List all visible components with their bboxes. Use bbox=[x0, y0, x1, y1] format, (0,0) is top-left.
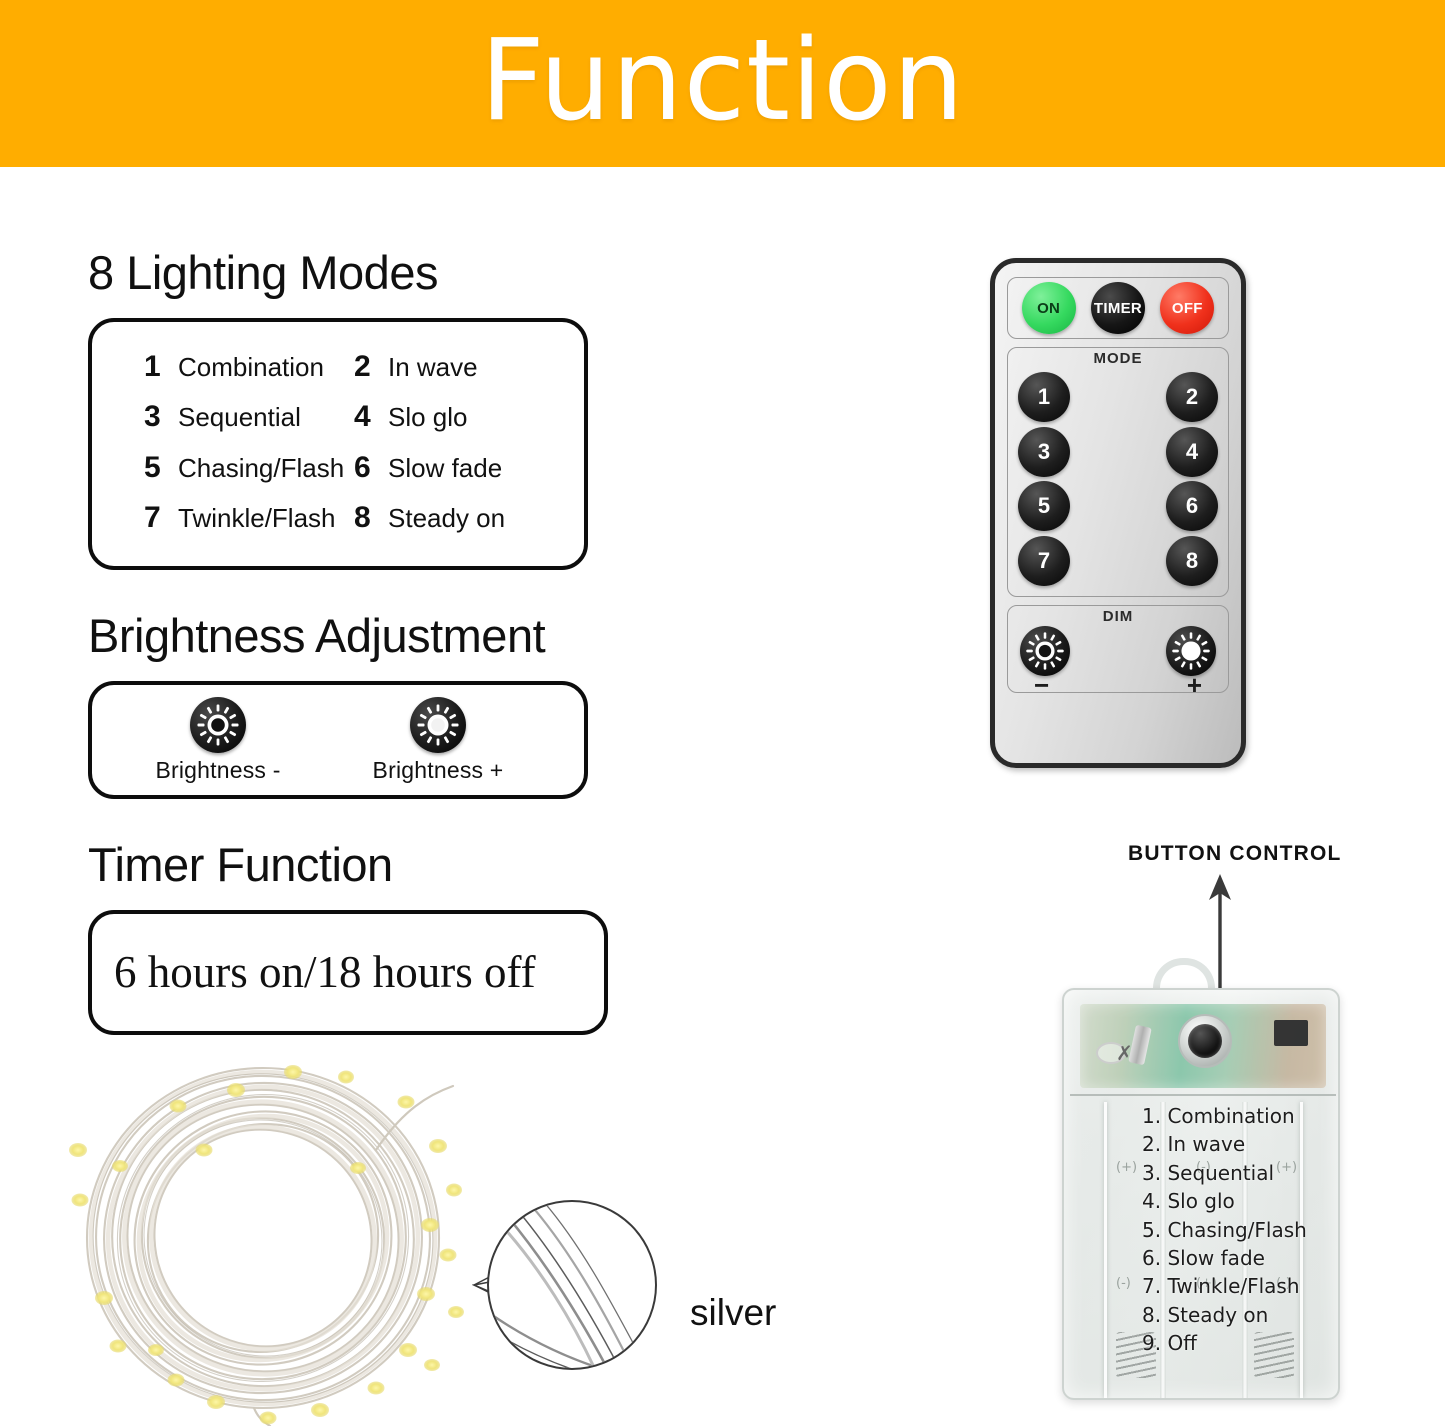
mode-label: Steady on bbox=[388, 497, 505, 541]
mode-row: 3 Sequential 4 Slo glo bbox=[92, 392, 584, 442]
mode-row: 1 Combination 2 In wave bbox=[92, 342, 584, 392]
remote-mode-button-1[interactable]: 1 bbox=[1018, 372, 1070, 422]
remote-power-group: ON TIMER OFF bbox=[1007, 277, 1229, 339]
battery-box-push-button[interactable] bbox=[1178, 1014, 1232, 1068]
lighting-modes-heading: 8 Lighting Modes bbox=[88, 245, 628, 300]
string-light-coil-image bbox=[58, 1050, 478, 1426]
mode-number: 5 bbox=[144, 443, 178, 493]
crossed-component-icon: ✗ bbox=[1116, 1044, 1138, 1066]
brightness-minus-item: Brightness - bbox=[128, 697, 308, 784]
mode-number: 4 bbox=[354, 392, 388, 442]
mode-label: Slo glo bbox=[388, 396, 468, 440]
push-button-cap bbox=[1188, 1024, 1222, 1058]
mode-label: Twinkle/Flash bbox=[178, 497, 336, 541]
silver-callout-label: silver bbox=[690, 1292, 776, 1334]
remote-mode-button-4[interactable]: 4 bbox=[1166, 427, 1218, 477]
mode-row: 7 Twinkle/Flash 8 Steady on bbox=[92, 493, 584, 543]
mode-item: 1 Combination bbox=[144, 342, 354, 392]
sun-dark-center-icon bbox=[190, 697, 246, 753]
timer-function-panel: 6 hours on/18 hours off bbox=[88, 910, 608, 1035]
brightness-adjustment-panel: Brightness - bbox=[88, 681, 588, 799]
battery-box: ✗ (+) (-) (+) (-) (+) (-) 1. Combination… bbox=[1062, 988, 1340, 1400]
mode-label: Slow fade bbox=[388, 447, 502, 491]
mode-number: 8 bbox=[354, 493, 388, 543]
mode-label: Chasing/Flash bbox=[178, 447, 344, 491]
mode-number: 1 bbox=[144, 342, 178, 392]
battery-mode-line: 1. Combination bbox=[1142, 1102, 1307, 1130]
remote-mode-group: MODE 1 2 3 4 5 6 7 8 bbox=[1007, 347, 1229, 597]
remote-dim-label: DIM bbox=[1008, 608, 1228, 625]
timer-function-heading: Timer Function bbox=[88, 837, 628, 892]
remote-mode-button-2[interactable]: 2 bbox=[1166, 372, 1218, 422]
remote-dim-down-button[interactable] bbox=[1020, 626, 1070, 676]
mode-item: 6 Slow fade bbox=[354, 443, 554, 493]
polarity-mark: (+) bbox=[1116, 1160, 1137, 1175]
remote-mode-button-5[interactable]: 5 bbox=[1018, 481, 1070, 531]
remote-dim-up-button[interactable] bbox=[1166, 626, 1216, 676]
timer-value-text: 6 hours on/18 hours off bbox=[92, 946, 536, 998]
remote-on-button[interactable]: ON bbox=[1022, 282, 1076, 334]
mode-item: 5 Chasing/Flash bbox=[144, 443, 354, 493]
brightness-plus-item: Brightness + bbox=[348, 697, 528, 784]
sun-dark-center-icon bbox=[1025, 631, 1065, 671]
remote-mode-button-6[interactable]: 6 bbox=[1166, 481, 1218, 531]
mode-label: Sequential bbox=[178, 396, 301, 440]
remote-mode-button-3[interactable]: 3 bbox=[1018, 427, 1070, 477]
remote-dim-group: DIM bbox=[1007, 605, 1229, 693]
mode-number: 3 bbox=[144, 392, 178, 442]
battery-mode-line: 3. Sequential bbox=[1142, 1159, 1307, 1187]
sun-light-center-icon bbox=[1171, 631, 1211, 671]
header-banner: Function bbox=[0, 0, 1445, 167]
brightness-adjustment-heading: Brightness Adjustment bbox=[88, 608, 628, 663]
remote-control[interactable]: ON TIMER OFF MODE 1 2 3 4 5 6 7 8 DIM bbox=[990, 258, 1246, 768]
remote-timer-button[interactable]: TIMER bbox=[1091, 282, 1145, 334]
infographic-page: Function 8 Lighting Modes 1 Combination … bbox=[0, 0, 1445, 1426]
remote-mode-button-8[interactable]: 8 bbox=[1166, 536, 1218, 586]
mode-label: Combination bbox=[178, 346, 324, 390]
brightness-plus-label: Brightness + bbox=[348, 757, 528, 784]
remote-mode-label: MODE bbox=[1008, 350, 1228, 367]
lighting-modes-panel: 1 Combination 2 In wave 3 Sequential 4 S… bbox=[88, 318, 588, 570]
mode-item: 7 Twinkle/Flash bbox=[144, 493, 354, 543]
brightness-minus-label: Brightness - bbox=[128, 757, 308, 784]
mode-item: 8 Steady on bbox=[354, 493, 554, 543]
mode-number: 7 bbox=[144, 493, 178, 543]
wire-zoom-callout bbox=[472, 1185, 672, 1385]
button-control-callout-label: BUTTON CONTROL bbox=[1128, 842, 1342, 866]
mode-item: 2 In wave bbox=[354, 342, 554, 392]
mode-row: 5 Chasing/Flash 6 Slow fade bbox=[92, 443, 584, 493]
battery-mode-line: 8. Steady on bbox=[1142, 1301, 1307, 1329]
page-title: Function bbox=[480, 25, 964, 137]
remote-mode-button-7[interactable]: 7 bbox=[1018, 536, 1070, 586]
battery-box-mode-list: 1. Combination 2. In wave 3. Sequential … bbox=[1142, 1102, 1307, 1358]
battery-mode-line: 6. Slow fade bbox=[1142, 1244, 1307, 1272]
left-content-column: 8 Lighting Modes 1 Combination 2 In wave… bbox=[88, 245, 628, 1035]
mode-label: In wave bbox=[388, 346, 478, 390]
battery-mode-line: 4. Slo glo bbox=[1142, 1187, 1307, 1215]
battery-mode-line: 2. In wave bbox=[1142, 1130, 1307, 1158]
battery-mode-line: 9. Off bbox=[1142, 1329, 1307, 1357]
battery-compartment-divider bbox=[1070, 1094, 1336, 1096]
remote-off-button[interactable]: OFF bbox=[1160, 282, 1214, 334]
mode-number: 2 bbox=[354, 342, 388, 392]
polarity-mark: (-) bbox=[1116, 1276, 1131, 1291]
battery-bay-rail bbox=[1104, 1102, 1107, 1398]
mode-number: 6 bbox=[354, 443, 388, 493]
mode-item: 4 Slo glo bbox=[354, 392, 554, 442]
mode-item: 3 Sequential bbox=[144, 392, 354, 442]
battery-mode-line: 7. Twinkle/Flash bbox=[1142, 1272, 1307, 1300]
ic-chip-icon bbox=[1274, 1020, 1308, 1046]
battery-mode-line: 5. Chasing/Flash bbox=[1142, 1216, 1307, 1244]
sun-light-center-icon bbox=[410, 697, 466, 753]
